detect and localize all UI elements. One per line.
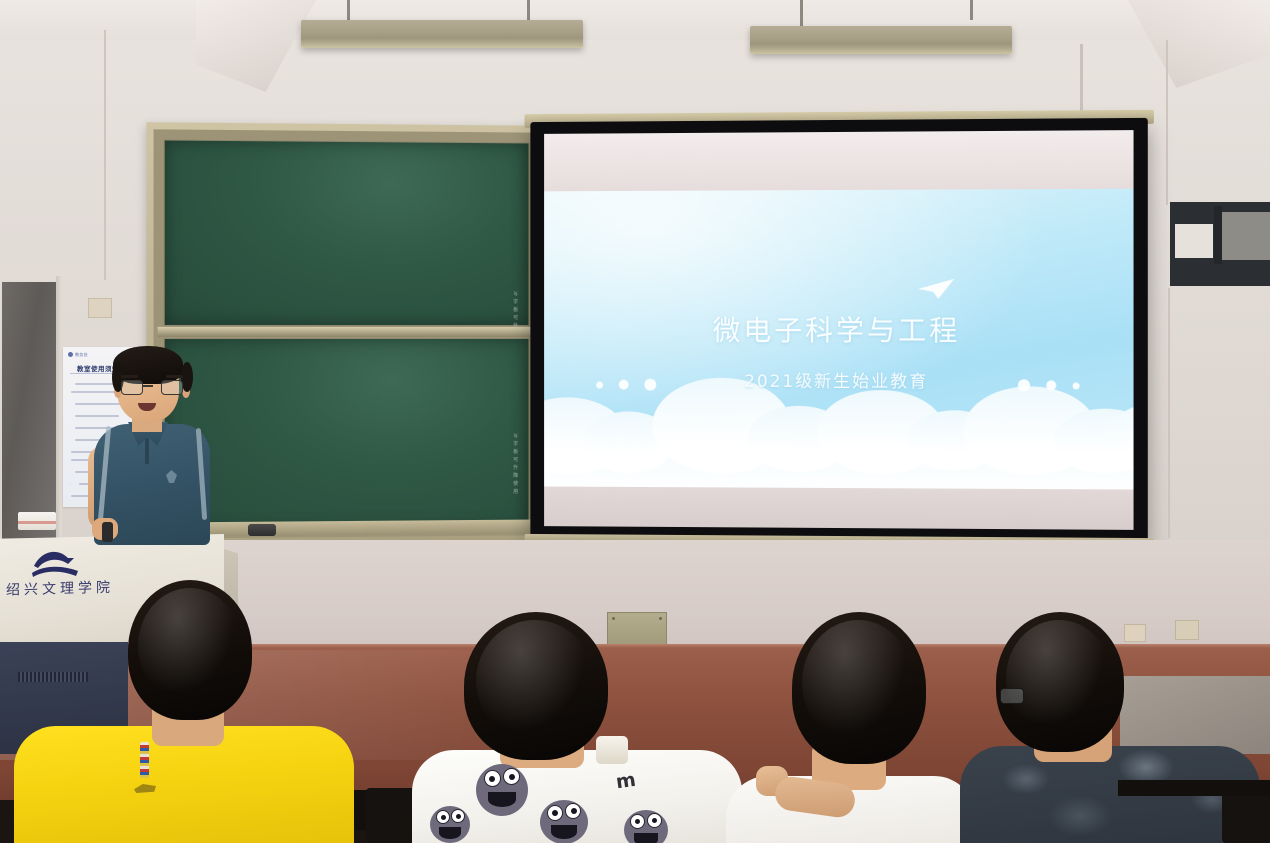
chalk-tray xyxy=(160,519,548,536)
conduit-vertical xyxy=(1080,44,1083,114)
university-logo-icon xyxy=(28,546,84,580)
poster-brand: 教务处 xyxy=(68,352,88,358)
cartoon-mouth xyxy=(634,833,658,843)
paper-plane-icon xyxy=(916,276,956,302)
chalkboard-edge-marks-lower: 写 字 板 可 升 降 使 用 xyxy=(511,434,521,495)
student-4-hair-sheen xyxy=(1006,620,1112,736)
wall-socket-right-b[interactable] xyxy=(1175,620,1199,640)
glasses-icon-right xyxy=(161,380,183,395)
slide-content: 微电子科学与工程 2021级新生始业教育 xyxy=(544,189,1133,490)
slide-title: 微电子科学与工程 xyxy=(544,309,1133,349)
chalkboard-panel-lower: 写 字 板 可 升 降 使 用 xyxy=(164,338,530,532)
light-glow-2 xyxy=(750,44,1012,54)
cartoon-eye xyxy=(647,813,662,828)
student-1-hair-sheen xyxy=(138,588,242,704)
chalkboard-slider-rail[interactable] xyxy=(158,327,536,337)
slide-letterbox-top xyxy=(544,130,1133,191)
classroom-door[interactable] xyxy=(2,282,60,540)
slide-decor-dots-right xyxy=(1018,380,1080,392)
window-mullion xyxy=(1214,206,1222,264)
blackboard-eraser[interactable] xyxy=(248,524,276,536)
cartoon-eye xyxy=(630,814,645,829)
cartoon-mouth xyxy=(551,825,577,839)
tissue-box-stripe xyxy=(18,521,56,524)
podium-university-name: 绍兴文理学院 xyxy=(6,576,126,599)
glasses-icon-left xyxy=(121,380,143,395)
desk-edge-right xyxy=(1118,780,1270,796)
ceiling xyxy=(0,0,1270,40)
paper-cup[interactable] xyxy=(596,736,628,764)
student-4-glasses-icon xyxy=(1000,688,1024,704)
cartoon-face-print-1 xyxy=(476,764,528,816)
cartoon-eye xyxy=(547,805,563,821)
presentation-clicker[interactable] xyxy=(102,522,113,542)
ceiling-light-fixture-1 xyxy=(301,20,583,48)
light-rod-4 xyxy=(970,0,973,20)
tissue-box[interactable] xyxy=(18,512,56,530)
student-2-shirt-text: m xyxy=(615,769,638,794)
wall-seam-left xyxy=(104,30,106,280)
wall-scuff: . xyxy=(70,480,72,486)
ceiling-light-fixture-2 xyxy=(750,26,1012,54)
cartoon-eye xyxy=(484,770,501,787)
cartoon-eye xyxy=(451,809,465,823)
light-glow-1 xyxy=(301,38,583,48)
presenter-polo-placket xyxy=(145,438,149,464)
presenter-brow-left xyxy=(121,375,138,378)
wall-seam-right-lower xyxy=(1168,288,1170,538)
slide-letterbox-bottom xyxy=(544,487,1133,530)
upper-right-window xyxy=(1170,202,1270,286)
floor-right-corner xyxy=(1120,676,1270,754)
classroom-photo: 教务处 教室使用须知 . 写 字 板 可 升 降 使 xyxy=(0,0,1270,843)
screen-bezel: 微电子科学与工程 2021级新生始业教育 xyxy=(530,118,1147,542)
cartoon-eye xyxy=(436,810,450,824)
wall-switch-plate[interactable] xyxy=(88,298,112,318)
wall-seam-right xyxy=(1166,40,1168,205)
cartoon-face-print-3 xyxy=(624,810,668,843)
window-pane-left xyxy=(1175,224,1213,258)
chalkboard-panel-upper: 写 字 板 可 升 降 使 用 xyxy=(164,139,530,326)
cartoon-eye xyxy=(565,803,581,819)
light-rod-3 xyxy=(800,0,803,26)
seat-back-right xyxy=(1222,790,1270,843)
student-2-hair-sheen xyxy=(476,620,594,742)
presenter xyxy=(88,350,216,545)
cartoon-face-print-2 xyxy=(540,800,588,843)
cartoon-mouth xyxy=(488,792,516,807)
cabinet-vent xyxy=(18,672,88,682)
presenter-brow-right xyxy=(166,375,183,378)
door-jamb xyxy=(56,276,62,542)
cartoon-mouth xyxy=(439,827,461,839)
wall-socket-right-a[interactable] xyxy=(1124,624,1146,642)
glasses-bridge xyxy=(143,385,153,387)
slide-surface: 微电子科学与工程 2021级新生始业教育 xyxy=(544,130,1133,530)
student-3-hair-sheen xyxy=(802,620,914,746)
student-1-shirt-ribbon-tag xyxy=(140,742,149,778)
cartoon-eye xyxy=(503,768,520,785)
window-pane-right xyxy=(1222,212,1270,260)
projection-screen[interactable]: 微电子科学与工程 2021级新生始业教育 xyxy=(530,118,1147,542)
slide-decor-dots-left xyxy=(596,379,656,391)
cartoon-face-print-4 xyxy=(430,806,470,843)
